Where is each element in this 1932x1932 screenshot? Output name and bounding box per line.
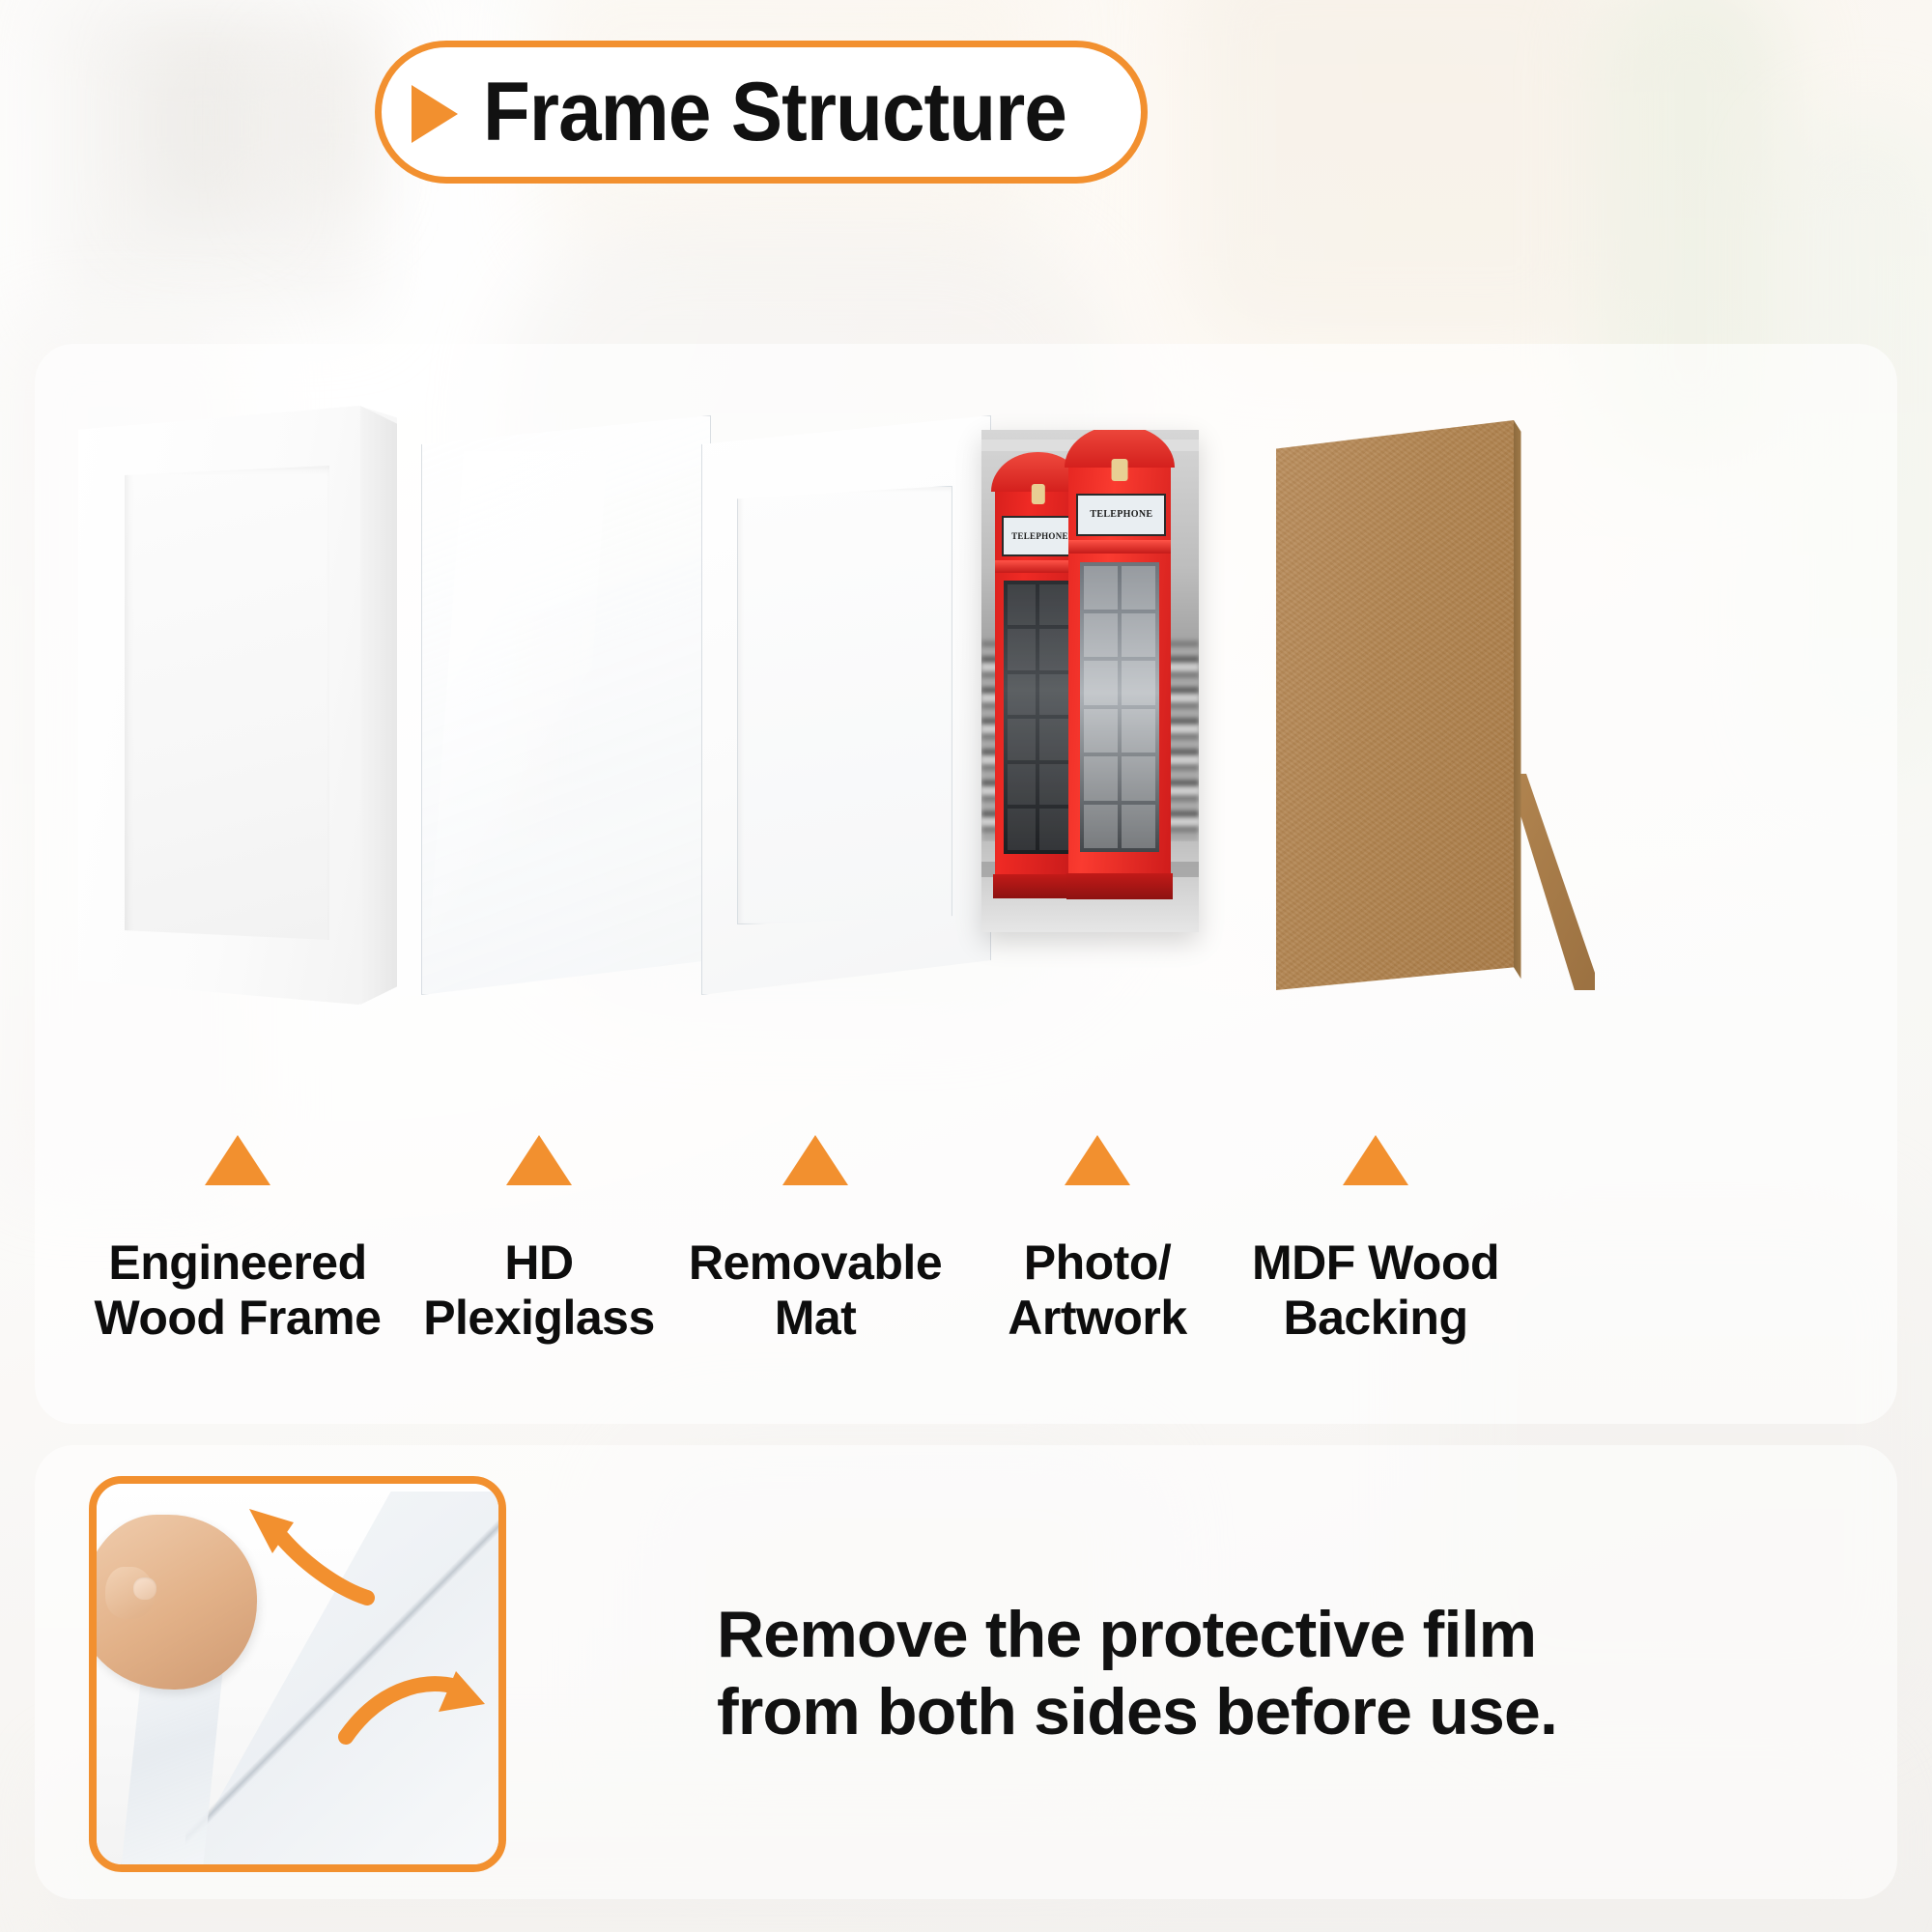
crown-emblem-icon [1111,459,1127,480]
play-triangle-icon [412,85,458,143]
component-mdf-wood-backing [1276,420,1566,990]
booth-sign-text: TELEPHONE [1090,510,1152,520]
booth-ledge [1068,540,1171,553]
instruction-text: Remove the protective film from both sid… [717,1596,1741,1750]
up-triangle-icon [1343,1135,1408,1185]
up-triangle-icon [205,1135,270,1185]
legend-item-engineered-wood-frame: Engineered Wood Frame [83,1135,392,1346]
curved-arrow-up-left-icon [222,1501,377,1607]
legend-label: Photo/ Artwork [943,1236,1252,1346]
legend-label: MDF Wood Backing [1221,1236,1530,1346]
booth-sign-text: TELEPHONE [1011,532,1068,541]
mat-window-cutout [737,486,953,925]
legend-label: HD Plexiglass [384,1236,694,1346]
frame-side-edge [360,406,397,1005]
component-engineered-wood-frame [78,406,397,1005]
legend-item-removable-mat: Removable Mat [661,1135,970,1346]
up-triangle-icon [782,1135,848,1185]
title-banner: Frame Structure [375,41,1148,184]
legend-item-photo-artwork: Photo/ Artwork [943,1135,1252,1346]
booth-base [1066,873,1173,899]
fingernail [133,1577,156,1601]
up-triangle-icon [506,1135,572,1185]
telephone-booth-right: TELEPHONE [1068,455,1171,882]
booth-glass-panes [1004,581,1071,854]
crown-emblem-icon [1031,484,1044,504]
curved-arrow-down-right-icon [338,1658,502,1764]
mdf-panel [1276,420,1514,990]
mdf-side-edge [1514,420,1521,990]
component-labels: Engineered Wood Frame HD Plexiglass Remo… [35,1135,1897,1386]
plexiglass-gloss [427,451,608,971]
plexiglass-sheet [421,415,711,995]
component-removable-mat [701,415,991,995]
legend-item-hd-plexiglass: HD Plexiglass [384,1135,694,1346]
component-hd-plexiglass [421,415,711,995]
booth-sign: TELEPHONE [1076,494,1166,536]
page-title: Frame Structure [483,71,1066,154]
component-photo-artwork: TELEPHONE TELEPHONE [981,430,1199,932]
booth-glass-panes [1080,562,1159,853]
film-peel-photo [89,1476,506,1872]
frame-opening [125,466,329,945]
booth-sign: TELEPHONE [1002,516,1079,555]
mat-board [701,415,991,995]
legend-label: Removable Mat [661,1236,970,1346]
legend-label: Engineered Wood Frame [83,1236,392,1346]
legend-item-mdf-wood-backing: MDF Wood Backing [1221,1135,1530,1346]
exploded-components: TELEPHONE TELEPHONE [35,377,1897,1111]
up-triangle-icon [1065,1135,1130,1185]
telephone-booth-photo: TELEPHONE TELEPHONE [981,430,1199,932]
